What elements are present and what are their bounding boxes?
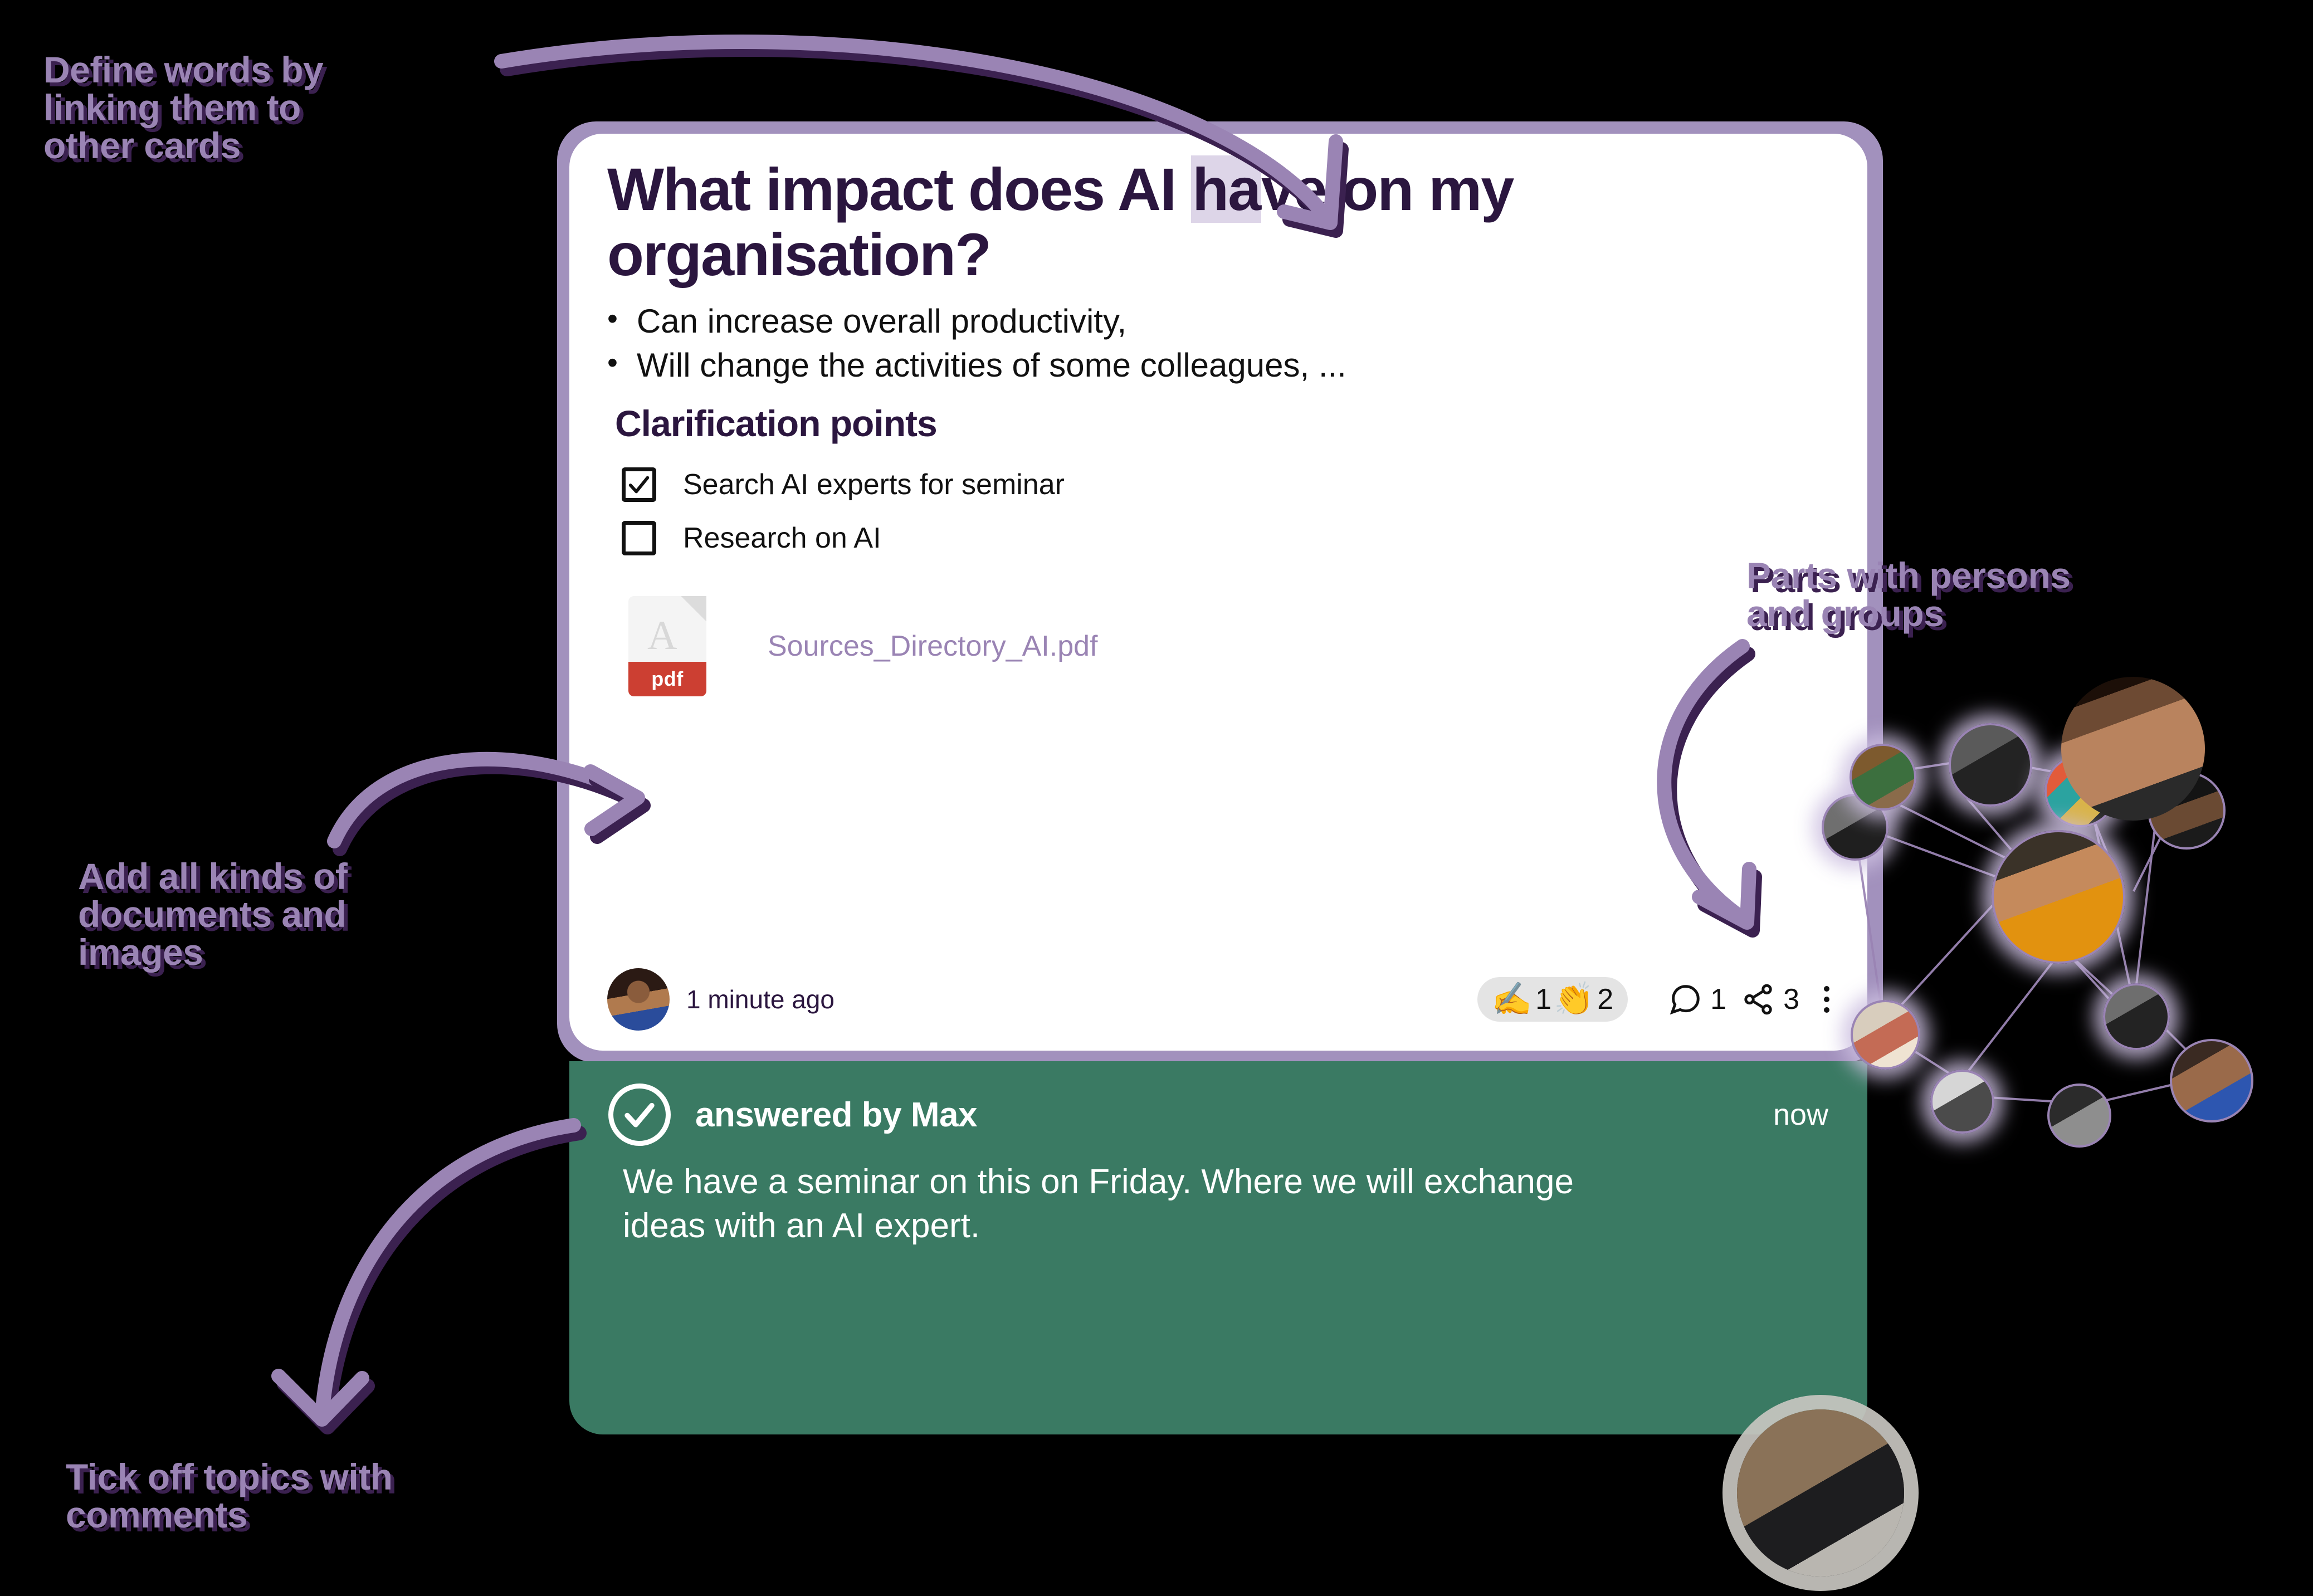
clarification-points-heading: Clarification points [615,402,1829,445]
network-node-avatar[interactable] [2103,983,2170,1050]
todo-item-checked[interactable]: Search AI experts for seminar [622,458,1829,511]
card-bullet-list: • Can increase overall productivity, • W… [607,299,1829,387]
featured-person-avatar[interactable] [2061,677,2205,821]
share-nodes-icon [1741,982,1775,1017]
network-node-avatar[interactable] [1850,744,1916,811]
card-timestamp: 1 minute ago [686,984,835,1014]
network-node-avatar[interactable] [2170,1039,2253,1122]
card-title-highlight[interactable]: ha [1191,155,1261,223]
comment-button[interactable]: 1 [1668,982,1726,1017]
reaction-count: 1 [1535,983,1551,1016]
check-circle-icon [608,1083,671,1146]
reactions-pill[interactable]: ✍️ 1 👏 2 [1477,977,1628,1022]
network-node-avatar[interactable] [1992,830,2125,964]
share-count: 3 [1783,983,1799,1016]
attachment-filename[interactable]: Sources_Directory_AI.pdf [768,629,1098,663]
pdf-attachment[interactable]: A pdf Sources_Directory_AI.pdf [628,596,1829,696]
todo-label: Research on AI [683,521,881,555]
callout-define-words: Define words by linking them to other ca… [43,51,323,165]
clarification-points-list: Search AI experts for seminar Research o… [622,458,1829,565]
reaction-clapping-hands[interactable]: 👏 2 [1554,983,1613,1016]
knowledge-card[interactable]: What impact does AI have on my organisat… [569,134,1867,1051]
callout-parts-with-persons: Parts with persons and groups [1746,557,2071,633]
card-title: What impact does AI have on my organisat… [607,157,1829,287]
share-button[interactable]: 3 [1741,982,1799,1017]
network-node-avatar[interactable] [1930,1070,1994,1134]
pdf-badge-label: pdf [651,667,683,691]
reaction-writing-hand[interactable]: ✍️ 1 [1492,983,1551,1016]
comment-bubble-icon [1668,982,1702,1017]
callout-tick-off-topics: Tick off topics with comments [66,1458,392,1534]
bullet-marker: • [607,343,618,382]
bullet-marker: • [607,299,618,338]
network-node-avatar[interactable] [1851,1000,1920,1070]
list-item: • Will change the activities of some col… [607,343,1829,387]
bullet-text: Can increase overall productivity, [637,299,1126,343]
todo-label: Search AI experts for seminar [683,468,1065,501]
pdf-glyph: A [647,615,677,656]
network-node-avatar[interactable] [2047,1083,2111,1148]
answer-panel: answered by Max now We have a seminar on… [569,1061,1867,1434]
answer-header: answered by Max now [608,1083,1828,1146]
answer-body: We have a seminar on this on Friday. Whe… [623,1160,1581,1248]
pdf-file-icon: A pdf [628,596,706,696]
arrow-to-answer [279,1125,579,1427]
bullet-text: Will change the activities of some colle… [637,343,1346,387]
clapping-hands-emoji: 👏 [1554,983,1594,1016]
reaction-count: 2 [1597,983,1613,1016]
card-footer: 1 minute ago ✍️ 1 👏 2 1 [607,968,1833,1031]
answer-title: answered by Max [695,1095,977,1135]
answer-author-avatar[interactable] [1737,1409,1904,1577]
callout-add-documents: Add all kinds of documents and images [78,858,347,972]
network-node-avatar[interactable] [1949,723,2032,807]
comment-count: 1 [1710,983,1726,1016]
todo-item-unchecked[interactable]: Research on AI [622,511,1829,565]
card-title-part-1: What impact does AI [607,155,1191,223]
list-item: • Can increase overall productivity, [607,299,1829,343]
avatar[interactable] [607,968,670,1031]
checkbox-checked-icon[interactable] [622,467,656,502]
answer-timestamp: now [1773,1097,1828,1132]
writing-hand-emoji: ✍️ [1492,983,1532,1016]
checkbox-empty-icon[interactable] [622,521,656,555]
